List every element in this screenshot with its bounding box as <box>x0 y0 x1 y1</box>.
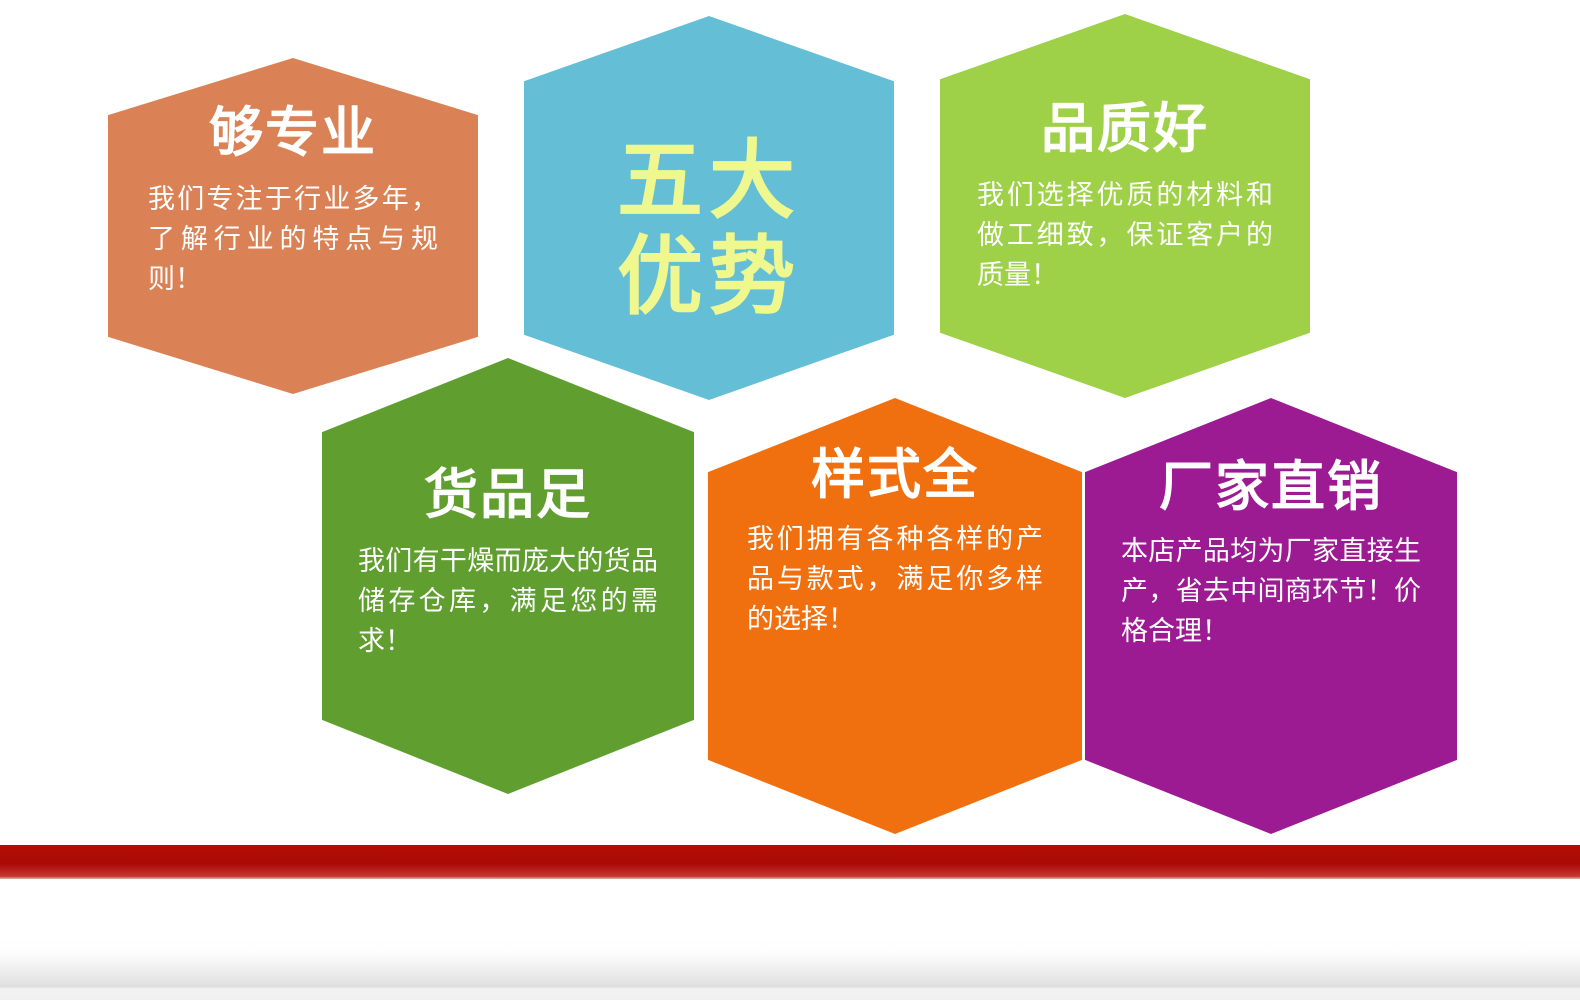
hex-card-quality[interactable]: 品质好 我们选择优质的材料和做工细致，保证客户的质量！ <box>940 14 1310 398</box>
center-title-line1: 五大 <box>617 133 801 229</box>
hex-title-factory-direct: 厂家直销 <box>1159 460 1383 514</box>
hex-title-stock: 货品足 <box>424 468 592 522</box>
hex-title-professional: 够专业 <box>209 106 377 160</box>
center-title-line2: 优势 <box>617 229 801 325</box>
hex-body-professional: 我们专注于行业多年，了解行业的特点与规则！ <box>148 180 438 300</box>
hex-body-quality: 我们选择优质的材料和做工细致，保证客户的质量！ <box>977 176 1273 296</box>
hex-card-factory-direct[interactable]: 厂家直销 本店产品均为厂家直接生产，省去中间商环节！价格合理！ <box>1085 398 1457 834</box>
promo-banner-page: 够专业 我们专注于行业多年，了解行业的特点与规则！ 五大 优势 品质好 我们选择… <box>0 0 1580 1000</box>
hex-title-variety: 样式全 <box>811 448 979 502</box>
grey-gradient-strip <box>0 938 1580 1000</box>
hex-body-stock: 我们有干燥而庞大的货品储存仓库，满足您的需求！ <box>358 542 658 662</box>
hex-title-quality: 品质好 <box>1041 102 1209 156</box>
hex-card-stock[interactable]: 货品足 我们有干燥而庞大的货品储存仓库，满足您的需求！ <box>322 358 694 794</box>
hex-card-center-headline[interactable]: 五大 优势 <box>524 16 894 400</box>
hex-card-variety[interactable]: 样式全 我们拥有各种各样的产品与款式，满足你多样的选择！ <box>708 398 1082 834</box>
red-divider-band <box>0 845 1580 879</box>
hex-body-variety: 我们拥有各种各样的产品与款式，满足你多样的选择！ <box>747 520 1043 640</box>
hex-card-professional[interactable]: 够专业 我们专注于行业多年，了解行业的特点与规则！ <box>108 58 478 394</box>
hex-body-factory-direct: 本店产品均为厂家直接生产，省去中间商环节！价格合理！ <box>1121 532 1421 652</box>
hexagon-advantage-cluster: 够专业 我们专注于行业多年，了解行业的特点与规则！ 五大 优势 品质好 我们选择… <box>0 0 1580 840</box>
